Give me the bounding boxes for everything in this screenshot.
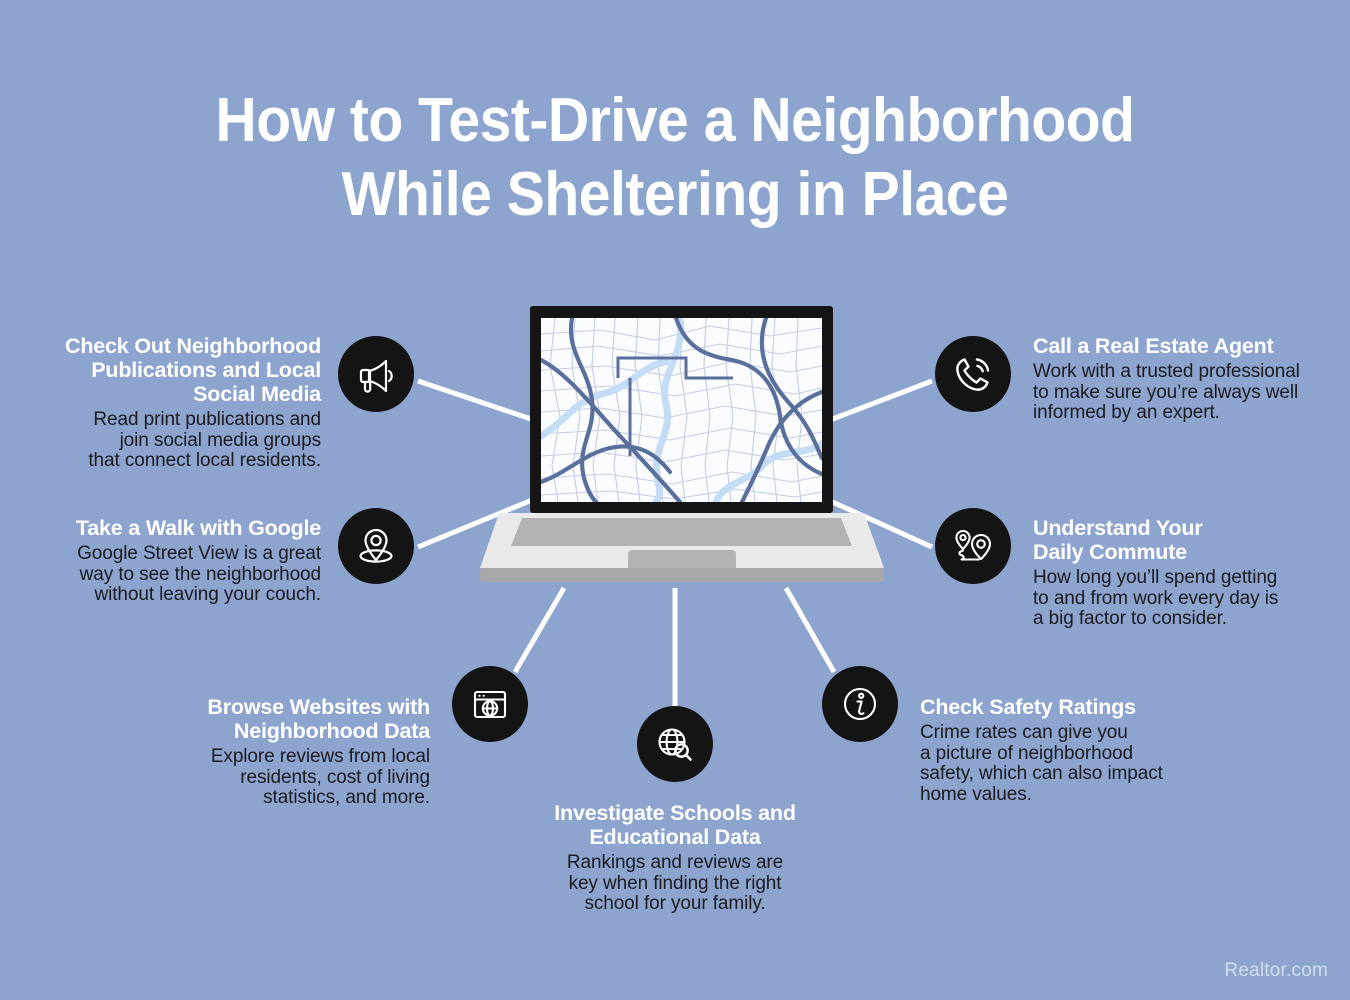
icon-badge-browse-websites[interactable] xyxy=(452,666,528,742)
tip-heading: Check Out Neighborhood Publications and … xyxy=(16,334,321,406)
map-pin-icon xyxy=(353,523,399,569)
tip-body: Rankings and reviews are key when findin… xyxy=(512,853,838,915)
icon-badge-publications[interactable] xyxy=(338,336,414,412)
connector-line-browse-websites xyxy=(515,588,564,672)
tip-block-browse-websites: Browse Websites with Neighborhood Data E… xyxy=(130,695,430,809)
browser-globe-icon xyxy=(467,681,513,727)
tip-block-schools: Investigate Schools and Educational Data… xyxy=(512,801,838,915)
tip-block-walk-google: Take a Walk with Google Google Street Vi… xyxy=(16,516,321,606)
tip-heading: Call a Real Estate Agent xyxy=(1033,334,1343,358)
tip-block-safety: Check Safety Ratings Crime rates can giv… xyxy=(920,695,1240,805)
tip-body: Read print publications and join social … xyxy=(16,410,321,472)
tip-body: Work with a trusted professional to make… xyxy=(1033,362,1343,424)
tip-heading: Take a Walk with Google xyxy=(16,516,321,540)
tip-heading: Check Safety Ratings xyxy=(920,695,1240,719)
tip-block-commute: Understand Your Daily Commute How long y… xyxy=(1033,516,1343,630)
brand-watermark: Realtor.com xyxy=(1224,960,1328,982)
page-title: How to Test-Drive a Neighborhood While S… xyxy=(54,84,1296,232)
route-pins-icon xyxy=(950,523,996,569)
laptop-screen-map xyxy=(541,318,822,502)
tip-heading: Investigate Schools and Educational Data xyxy=(512,801,838,849)
icon-badge-safety[interactable] xyxy=(822,666,898,742)
icon-badge-schools[interactable] xyxy=(637,706,713,782)
tip-body: Explore reviews from local residents, co… xyxy=(130,747,430,809)
laptop-keyboard-area xyxy=(511,518,852,546)
infographic-canvas: How to Test-Drive a Neighborhood While S… xyxy=(0,0,1350,1000)
tip-body: Crime rates can give you a picture of ne… xyxy=(920,723,1240,805)
icon-badge-walk-google[interactable] xyxy=(338,508,414,584)
icon-badge-agent[interactable] xyxy=(935,336,1011,412)
tip-block-publications: Check Out Neighborhood Publications and … xyxy=(16,334,321,472)
globe-search-icon xyxy=(652,721,698,767)
laptop-base-edge xyxy=(480,568,884,582)
laptop-illustration xyxy=(480,296,884,586)
tip-block-agent: Call a Real Estate Agent Work with a tru… xyxy=(1033,334,1343,424)
info-circle-icon xyxy=(837,681,883,727)
tip-body: Google Street View is a great way to see… xyxy=(16,544,321,606)
connector-line-safety xyxy=(786,588,834,672)
icon-badge-commute[interactable] xyxy=(935,508,1011,584)
tip-body: How long you’ll spend getting to and fro… xyxy=(1033,568,1343,630)
tip-heading: Understand Your Daily Commute xyxy=(1033,516,1343,564)
tip-heading: Browse Websites with Neighborhood Data xyxy=(130,695,430,743)
megaphone-icon xyxy=(353,351,399,397)
phone-ringing-icon xyxy=(950,351,996,397)
